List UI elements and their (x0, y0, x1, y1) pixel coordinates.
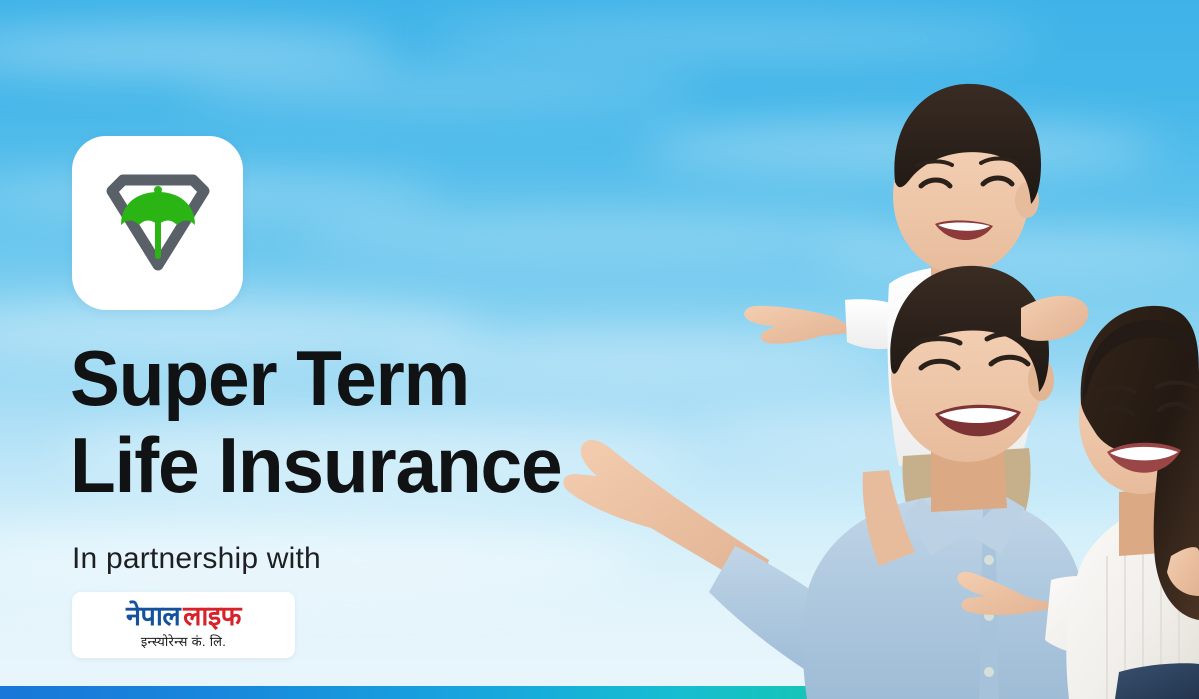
cloud-streak (300, 210, 900, 254)
promo-banner: Super Term Life Insurance In partnership… (0, 0, 1199, 699)
headline-line-1: Super Term (70, 335, 562, 422)
page-title: Super Term Life Insurance (70, 335, 562, 510)
cloud-streak (420, 18, 1040, 58)
brand-logo-badge (72, 136, 243, 310)
partner-name-primary: नेपाल (126, 603, 183, 630)
partner-logo-card: नेपाल लाइफ इन्स्योरेन्स कं. लि. (72, 592, 295, 658)
headline-line-2: Life Insurance (70, 422, 562, 509)
cloud-streak (640, 122, 1160, 174)
cloud-streak (700, 400, 1199, 460)
partner-name-secondary: लाइफ (183, 603, 241, 630)
cloud-streak (0, 28, 400, 74)
cloud-streak (180, 74, 700, 108)
cloud-streak (820, 230, 1199, 276)
diamond-umbrella-icon (99, 169, 217, 277)
partner-subtitle: इन्स्योरेन्स कं. लि. (141, 635, 226, 648)
partnership-label: In partnership with (72, 542, 321, 576)
bottom-accent-strip (0, 686, 1199, 699)
partner-wordmark: नेपाल लाइफ (126, 603, 241, 630)
